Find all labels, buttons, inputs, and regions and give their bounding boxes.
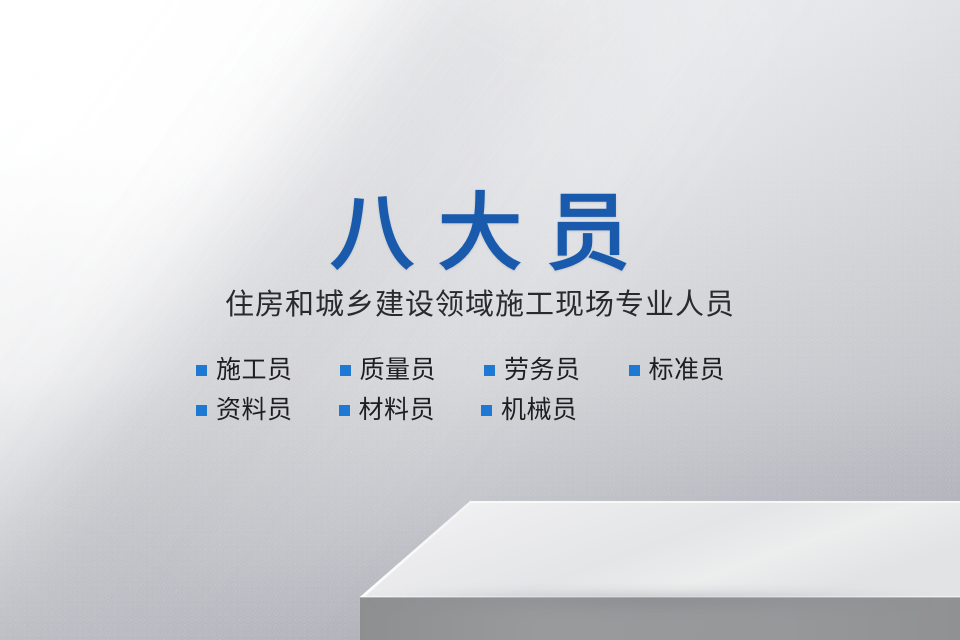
square-bullet-icon	[481, 405, 492, 416]
role-item-zhiliangyuan[interactable]: 质量员	[340, 355, 437, 385]
role-label: 资料员	[216, 395, 293, 425]
square-bullet-icon	[339, 405, 350, 416]
role-label: 机械员	[501, 395, 578, 425]
role-label: 质量员	[360, 355, 437, 385]
role-item-laowuyuan[interactable]: 劳务员	[484, 355, 581, 385]
role-label: 劳务员	[504, 355, 581, 385]
role-item-biaozhunyuan[interactable]: 标准员	[629, 355, 726, 385]
square-bullet-icon	[484, 365, 495, 376]
square-bullet-icon	[196, 365, 207, 376]
page-subtitle: 住房和城乡建设领域施工现场专业人员	[0, 286, 960, 324]
poster-content: 八大员 住房和城乡建设领域施工现场专业人员 施工员 质量员 劳务员	[0, 0, 960, 640]
page-title: 八大员	[0, 186, 960, 280]
poster-canvas: 八大员 住房和城乡建设领域施工现场专业人员 施工员 质量员 劳务员	[0, 0, 960, 640]
role-label: 材料员	[359, 395, 436, 425]
square-bullet-icon	[629, 365, 640, 376]
role-item-cailiaoyuan[interactable]: 材料员	[339, 395, 436, 425]
role-list: 施工员 质量员 劳务员 标准员	[196, 350, 796, 430]
role-item-jixieyuan[interactable]: 机械员	[481, 395, 578, 425]
role-item-ziliaoyuan[interactable]: 资料员	[196, 395, 293, 425]
role-row-1: 施工员 质量员 劳务员 标准员	[196, 350, 796, 390]
role-item-shigongyuan[interactable]: 施工员	[196, 355, 293, 385]
square-bullet-icon	[340, 365, 351, 376]
role-label: 施工员	[216, 355, 293, 385]
square-bullet-icon	[196, 405, 207, 416]
role-label: 标准员	[649, 355, 726, 385]
role-row-2: 资料员 材料员 机械员	[196, 390, 796, 430]
